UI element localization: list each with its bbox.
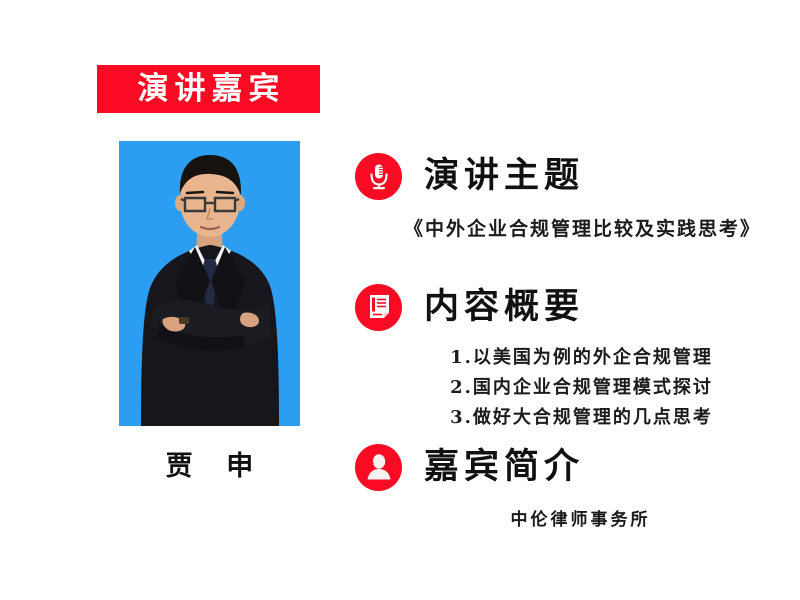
person-portrait-photo — [119, 141, 300, 426]
speaker-photo — [119, 141, 300, 426]
microphone-icon — [355, 153, 402, 200]
section-speech-topic-header: 演讲主题 — [355, 152, 800, 200]
list-item: 3.做好大合规管理的几点思考 — [355, 403, 800, 433]
speech-topic-subtitle: 《中外企业合规管理比较及实践思考》 — [355, 214, 800, 241]
section-guest-profile-header: 嘉宾简介 — [355, 443, 800, 491]
section-content-outline-title: 内容概要 — [424, 290, 584, 325]
title-banner-label: 演讲嘉宾 — [132, 74, 286, 105]
person-icon — [355, 444, 402, 491]
section-guest-profile: 嘉宾简介 中伦律师事务所 — [355, 443, 800, 530]
list-item: 1.以美国为例的外企合规管理 — [355, 343, 800, 373]
section-content-outline: 内容概要 1.以美国为例的外企合规管理 2.国内企业合规管理模式探讨 3.做好大… — [355, 283, 800, 433]
document-icon — [355, 284, 402, 331]
content-outline-list: 1.以美国为例的外企合规管理 2.国内企业合规管理模式探讨 3.做好大合规管理的… — [355, 343, 800, 433]
section-speech-topic: 演讲主题 《中外企业合规管理比较及实践思考》 — [355, 152, 800, 241]
content-column: 演讲主题 《中外企业合规管理比较及实践思考》 — [355, 140, 800, 560]
speaker-intro-slide: 演讲嘉宾 — [0, 0, 800, 600]
section-speech-topic-title: 演讲主题 — [424, 159, 584, 194]
list-item: 2.国内企业合规管理模式探讨 — [355, 373, 800, 403]
section-content-outline-header: 内容概要 — [355, 283, 800, 331]
title-banner: 演讲嘉宾 — [97, 65, 320, 113]
guest-affiliation: 中伦律师事务所 — [355, 505, 800, 530]
speaker-name: 贾 申 — [119, 444, 300, 483]
section-guest-profile-title: 嘉宾简介 — [424, 450, 584, 485]
